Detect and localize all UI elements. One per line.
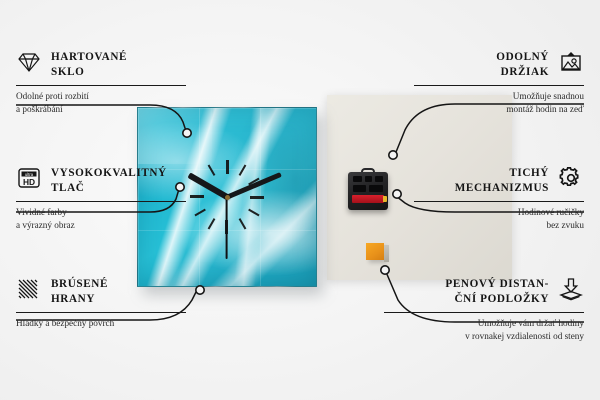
feature-divider bbox=[16, 312, 186, 313]
connector-node-edges bbox=[196, 286, 204, 294]
diamond-icon bbox=[16, 50, 42, 74]
down-arrow-pad-icon bbox=[558, 277, 584, 301]
feature-sub-line1: Umožňuje snadnou bbox=[414, 90, 584, 103]
feature-title-line2: MECHANIZMUS bbox=[455, 181, 549, 196]
infographic-stage: HARTOVANÉ SKLO Odolné proti rozbití a po… bbox=[0, 0, 600, 400]
feature-sub-line2: bez zvuku bbox=[414, 219, 584, 232]
feature-sub-line2: a výrazný obraz bbox=[16, 219, 186, 232]
feature-title-line2: DRŽIAK bbox=[501, 65, 549, 80]
feature-sub-line2: a poškrábání bbox=[16, 103, 186, 116]
connector-node-glass bbox=[183, 129, 191, 137]
feature-ground-edges: BRÚSENÉ HRANY Hladký a bezpečný povrch bbox=[16, 277, 186, 330]
feature-title-line2: HRANY bbox=[51, 292, 108, 307]
feature-divider bbox=[16, 85, 186, 86]
connector-node-mechanism bbox=[393, 190, 401, 198]
feature-title-line1: TICHÝ bbox=[509, 166, 549, 181]
framed-picture-hanger-icon bbox=[558, 50, 584, 74]
feature-durable-holder: ODOLNÝ DRŽIAK Umožňuje snadnou montáž ho… bbox=[414, 50, 584, 116]
feature-title-line2: SKLO bbox=[51, 65, 127, 80]
feature-high-quality-print: ultra HD VYSOKOKVALITNÝ TLAČ Vividné far… bbox=[16, 166, 186, 232]
hatched-edge-icon bbox=[16, 277, 42, 301]
feature-title-line1: PENOVÝ DISTAN- bbox=[445, 277, 549, 292]
gear-icon bbox=[558, 166, 584, 190]
feature-title-line1: ODOLNÝ bbox=[496, 50, 549, 65]
feature-foam-spacers: PENOVÝ DISTAN- ČNÍ PODLOŽKY Umožňuje vám… bbox=[384, 277, 584, 343]
feature-silent-mechanism: TICHÝ MECHANIZMUS Hodinové ručičky bez z… bbox=[414, 166, 584, 232]
feature-sub-line1: Odolné proti rozbití bbox=[16, 90, 186, 103]
svg-text:HD: HD bbox=[23, 177, 35, 187]
ultra-hd-icon: ultra HD bbox=[16, 166, 42, 190]
feature-sub-line1: Umožňuje vám držať hodiny bbox=[384, 317, 584, 330]
connector-node-foam bbox=[381, 266, 389, 274]
feature-sub-line1: Hodinové ručičky bbox=[414, 206, 584, 219]
feature-sub-line1: Hladký a bezpečný povrch bbox=[16, 317, 186, 330]
feature-sub-line2: montáž hodin na zeď bbox=[414, 103, 584, 116]
feature-title-line2: ČNÍ PODLOŽKY bbox=[454, 292, 549, 307]
feature-title-line1: HARTOVANÉ bbox=[51, 50, 127, 65]
feature-divider bbox=[414, 201, 584, 202]
feature-title-line1: VYSOKOKVALITNÝ bbox=[51, 166, 167, 181]
feature-title-line1: BRÚSENÉ bbox=[51, 277, 108, 292]
feature-title-line2: TLAČ bbox=[51, 181, 167, 196]
feature-divider bbox=[16, 201, 186, 202]
feature-tempered-glass: HARTOVANÉ SKLO Odolné proti rozbití a po… bbox=[16, 50, 186, 116]
feature-sub-line1: Vividné farby bbox=[16, 206, 186, 219]
feature-divider bbox=[414, 85, 584, 86]
feature-sub-line2: v rovnakej vzdialenosti od steny bbox=[384, 330, 584, 343]
connector-node-holder bbox=[389, 151, 397, 159]
feature-divider bbox=[384, 312, 584, 313]
